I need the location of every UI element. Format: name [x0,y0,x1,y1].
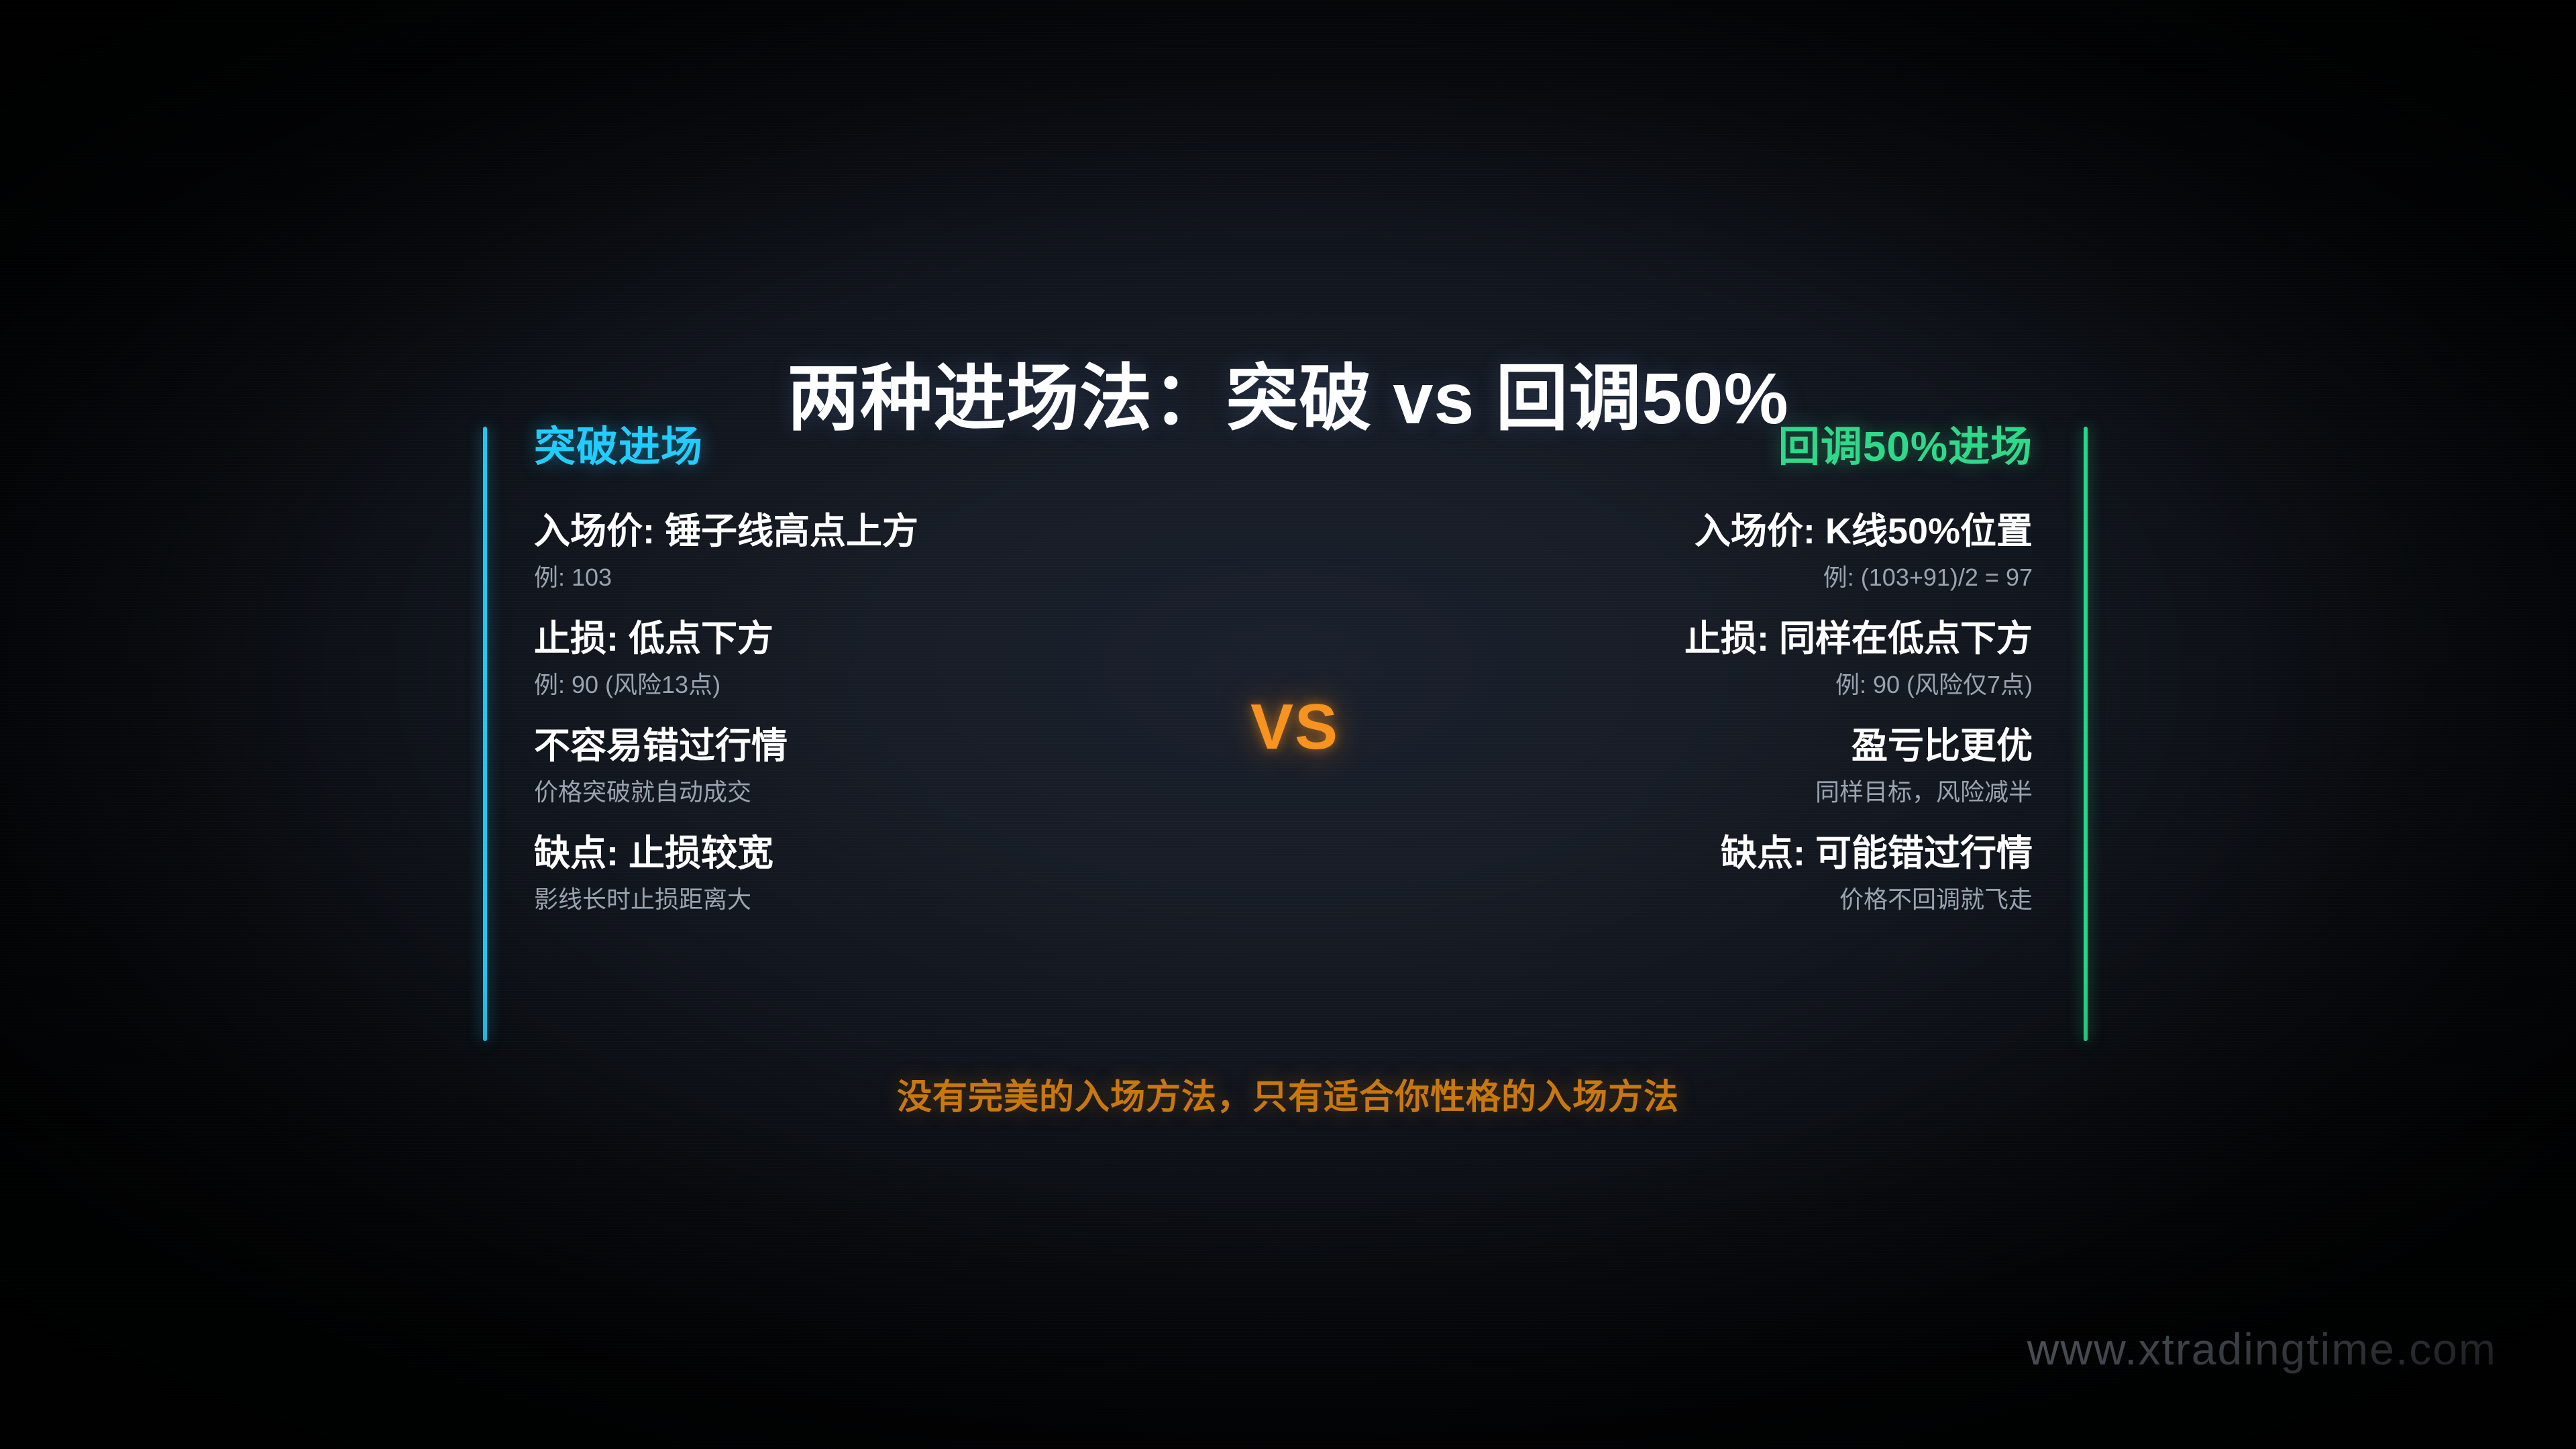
row-sub-text: 例: (103+91)/2 = 97 [1362,563,2033,591]
footer-watermark-url: www.xtradingtime.com [2027,1327,2497,1371]
column-heading-pullback: 回调50%进场 [1362,427,2033,468]
row-sub-text: 影线长时止损距离大 [534,885,1205,913]
row-sub-text: 价格不回调就飞走 [1362,885,2033,913]
column-pullback-entry: 回调50%进场 入场价: K线50%位置 例: (103+91)/2 = 97 … [1362,427,2033,913]
list-item: 缺点: 可能错过行情 价格不回调就飞走 [1362,833,2033,914]
row-main-text: 止损: 低点下方 [534,619,1205,659]
slide-canvas: 两种进场法：突破 vs 回调50% 突破进场 入场价: 锤子线高点上方 例: 1… [0,0,2576,1449]
row-main-text: 缺点: 可能错过行情 [1362,833,2033,873]
row-sub-text: 价格突破就自动成交 [534,778,1205,806]
left-accent-rail [483,427,487,1041]
row-main-text: 不容易错过行情 [534,726,1205,766]
vs-badge: VS [1194,695,1395,759]
list-item: 入场价: K线50%位置 例: (103+91)/2 = 97 [1362,511,2033,592]
list-item: 止损: 同样在低点下方 例: 90 (风险仅7点) [1362,619,2033,699]
row-main-text: 盈亏比更优 [1362,726,2033,766]
row-main-text: 入场价: K线50%位置 [1362,511,2033,551]
column-heading-breakout: 突破进场 [534,427,1205,468]
row-main-text: 缺点: 止损较宽 [534,833,1205,873]
tagline: 没有完美的入场方法，只有适合你性格的入场方法 [0,1079,2576,1117]
row-sub-text: 例: 103 [534,563,1205,591]
row-main-text: 止损: 同样在低点下方 [1362,619,2033,659]
list-item: 不容易错过行情 价格突破就自动成交 [534,726,1205,806]
list-item: 入场价: 锤子线高点上方 例: 103 [534,511,1205,592]
list-item: 盈亏比更优 同样目标，风险减半 [1362,726,2033,806]
row-sub-text: 例: 90 (风险13点) [534,671,1205,698]
list-item: 缺点: 止损较宽 影线长时止损距离大 [534,833,1205,914]
list-item: 止损: 低点下方 例: 90 (风险13点) [534,619,1205,699]
row-sub-text: 同样目标，风险减半 [1362,778,2033,806]
row-sub-text: 例: 90 (风险仅7点) [1362,671,2033,698]
right-accent-rail [2084,427,2088,1041]
column-breakout-entry: 突破进场 入场价: 锤子线高点上方 例: 103 止损: 低点下方 例: 90 … [534,427,1205,913]
row-main-text: 入场价: 锤子线高点上方 [534,511,1205,551]
